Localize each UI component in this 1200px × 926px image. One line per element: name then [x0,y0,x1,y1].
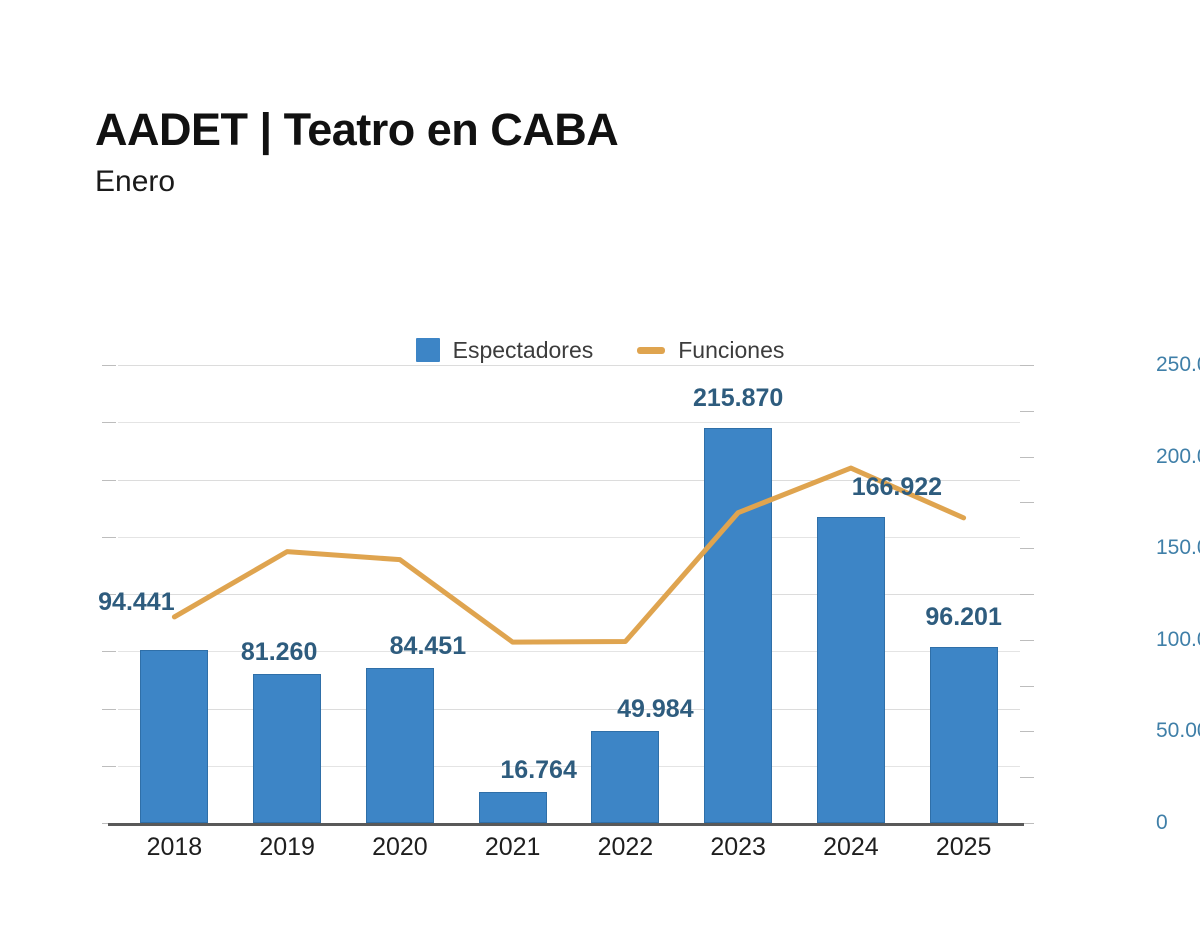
right-tick-mark [1020,731,1034,732]
legend-item-espectadores[interactable]: Espectadores [416,337,594,364]
right-tick-mark [1020,365,1034,366]
right-tick-mark [1020,640,1034,641]
chart-legend: Espectadores Funciones [0,333,1200,367]
right-tick-mark [1020,411,1034,412]
left-tick-mark [102,651,116,652]
right-axis-tick-label: 200.000 [1156,445,1200,469]
x-axis-label-2020: 2020 [372,833,428,862]
chart-container: Espectadores Funciones 0200400600800 050… [0,325,1200,885]
right-axis-tick-label: 150.000 [1156,536,1200,560]
bar-label-2021: 16.764 [500,756,576,785]
left-tick-mark [102,766,116,767]
left-tick-mark [102,365,116,366]
bar-label-2025: 96.201 [925,603,1001,632]
axis-baseline [108,823,1024,826]
right-axis-tick-label: 50.000 [1156,719,1200,743]
slide-canvas: AADET | Teatro en CABA Enero Espectadore… [0,0,1200,926]
plot-area: 0200400600800 050.000100.000150.000200.0… [118,365,1020,823]
header: AADET | Teatro en CABA Enero [95,106,1095,197]
right-axis-tick-label: 250.000 [1156,353,1200,377]
x-axis-label-2018: 2018 [147,833,203,862]
x-axis-label-2023: 2023 [710,833,766,862]
legend-label-funciones: Funciones [678,337,784,364]
page-title: AADET | Teatro en CABA [95,106,1095,153]
page-subtitle: Enero [95,167,1095,197]
x-axis-label-2019: 2019 [259,833,315,862]
legend-line-swatch-icon [637,347,665,354]
bar-label-2018: 94.441 [98,588,174,617]
right-tick-mark [1020,457,1034,458]
right-tick-mark [1020,502,1034,503]
x-axis-label-2024: 2024 [823,833,879,862]
legend-label-espectadores: Espectadores [453,337,594,364]
x-axis-label-2025: 2025 [936,833,992,862]
right-tick-mark [1020,548,1034,549]
x-axis-label-2021: 2021 [485,833,541,862]
left-tick-mark [102,537,116,538]
left-tick-mark [102,480,116,481]
right-tick-mark [1020,777,1034,778]
legend-item-funciones[interactable]: Funciones [637,337,784,364]
bar-label-2019: 81.260 [241,638,317,667]
right-axis-tick-label: 100.000 [1156,628,1200,652]
bar-label-2022: 49.984 [617,695,693,724]
left-tick-mark [102,709,116,710]
bar-label-2024: 166.922 [852,473,942,502]
bar-label-2020: 84.451 [390,632,466,661]
funciones-polyline [174,468,963,642]
bar-label-2023: 215.870 [693,384,783,413]
x-axis-label-2022: 2022 [598,833,654,862]
right-tick-mark [1020,594,1034,595]
right-tick-mark [1020,686,1034,687]
line-series-funciones [118,365,1020,823]
legend-bar-swatch-icon [416,338,440,362]
left-tick-mark [102,422,116,423]
right-axis-tick-label: 0 [1156,811,1200,835]
